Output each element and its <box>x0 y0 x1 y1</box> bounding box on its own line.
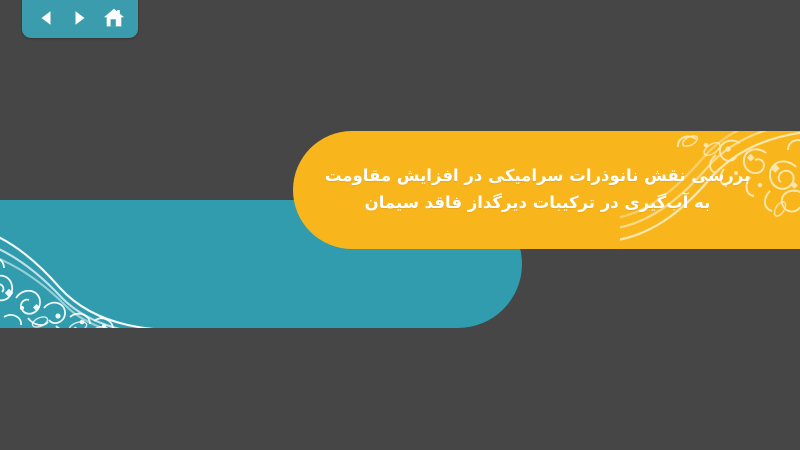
slide-canvas: بررسی نقش نانوذرات سرامیکی در افزایش مقا… <box>0 0 800 450</box>
forward-icon <box>70 8 90 28</box>
home-button[interactable] <box>99 4 129 32</box>
arabesque-ornament-icon <box>0 200 172 328</box>
navigation-toolbar <box>22 0 138 38</box>
forward-button[interactable] <box>65 4 95 32</box>
home-icon <box>103 7 125 29</box>
title-banner: بررسی نقش نانوذرات سرامیکی در افزایش مقا… <box>293 131 800 249</box>
back-icon <box>36 8 56 28</box>
slide-title: بررسی نقش نانوذرات سرامیکی در افزایش مقا… <box>323 163 753 216</box>
back-button[interactable] <box>31 4 61 32</box>
